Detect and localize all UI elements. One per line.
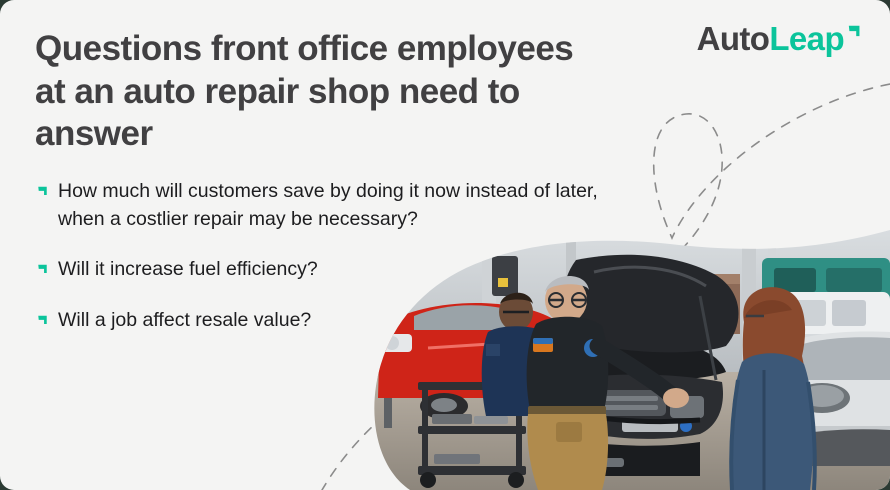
infographic-card: AutoLeap Questions front office employee… xyxy=(0,0,890,490)
arrow-up-right-bullet-icon xyxy=(36,313,49,326)
list-item-label: Will a job affect resale value? xyxy=(58,309,311,331)
arrow-up-right-icon xyxy=(845,23,862,40)
list-item: How much will customers save by doing it… xyxy=(35,178,630,233)
list-item-label: How much will customers save by doing it… xyxy=(58,180,598,230)
arrow-up-right-bullet-icon xyxy=(36,184,49,197)
arrow-up-right-bullet-icon xyxy=(36,262,49,275)
autoleap-logo[interactable]: AutoLeap xyxy=(697,22,862,55)
questions-list: How much will customers save by doing it… xyxy=(35,178,630,335)
page-title: Questions front office employees at an a… xyxy=(35,28,595,156)
logo-text-leap: Leap xyxy=(769,22,844,55)
list-item: Will a job affect resale value? xyxy=(35,307,630,335)
list-item-label: Will it increase fuel efficiency? xyxy=(58,258,318,280)
list-item: Will it increase fuel efficiency? xyxy=(35,256,630,284)
logo-text-auto: Auto xyxy=(697,22,770,55)
